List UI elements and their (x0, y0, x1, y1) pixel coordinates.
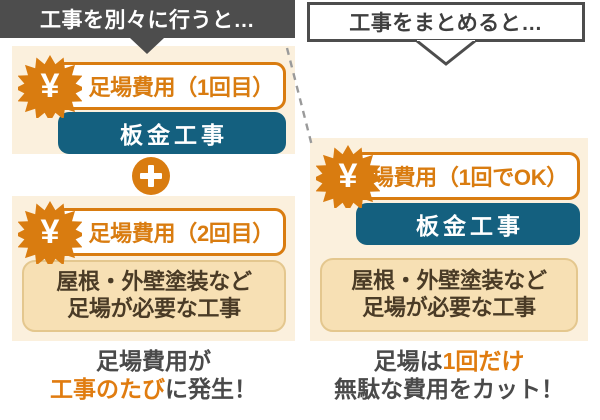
caption-separate-line-2: 工事のたびに発生！ (12, 376, 295, 404)
header-separate-arrow-icon (130, 38, 164, 54)
right-work-box: 屋根・外壁塗装など 足場が必要な工事 (320, 258, 578, 332)
caption-separate-line-2-highlight: 工事のたび (50, 376, 165, 402)
left-work-box-2-line-1: 屋根・外壁塗装など (56, 269, 251, 296)
header-combined-construction: 工事をまとめると… (307, 2, 585, 42)
left-cost-row-1: 足場費用（1回目） ¥ (18, 62, 286, 110)
right-work-box-line-2: 足場が必要な工事 (362, 295, 536, 322)
caption-separate-line-1: 足場費用が (12, 348, 295, 376)
yen-starburst-icon: ¥ (316, 144, 380, 208)
caption-combined-line-1-highlight: 1回だけ (443, 348, 525, 374)
yen-starburst-icon: ¥ (18, 54, 82, 118)
caption-combined-line-2: 無駄な費用をカット！ (310, 376, 588, 404)
left-work-box-2: 屋根・外壁塗装など 足場が必要な工事 (22, 260, 286, 332)
caption-separate: 足場費用が 工事のたびに発生！ (12, 348, 295, 403)
header-combined-arrow-icon (415, 40, 477, 66)
right-work-box-line-1: 屋根・外壁塗装など (351, 268, 546, 295)
plus-circle-icon (132, 157, 170, 195)
right-cost-pill: 足場費用（1回でOK） (352, 152, 580, 200)
left-cost-pill-2: 足場費用（2回目） (54, 208, 286, 256)
caption-combined-line-1-rest: 足場は (374, 348, 443, 374)
left-cost-pill-1: 足場費用（1回目） (54, 62, 286, 110)
left-work-bar-1: 板金工事 (58, 112, 286, 154)
yen-symbol: ¥ (316, 144, 380, 208)
right-work-bar-label: 板金工事 (412, 207, 524, 241)
left-work-bar-1-label: 板金工事 (116, 116, 228, 150)
header-combined-label: 工事をまとめると… (349, 7, 543, 37)
caption-combined-line-1: 足場は1回だけ (310, 348, 588, 376)
header-separate-construction: 工事を別々に行うと… (0, 0, 295, 38)
diagram-canvas: 工事を別々に行うと… 工事をまとめると… 足場費用（1回目） ¥ 板金工事 (0, 0, 600, 420)
left-cost-row-2: 足場費用（2回目） ¥ (18, 208, 286, 256)
right-cost-pill-label: 足場費用（1回でOK） (350, 160, 568, 192)
caption-combined: 足場は1回だけ 無駄な費用をカット！ (310, 348, 588, 403)
right-work-bar: 板金工事 (356, 203, 580, 245)
yen-symbol: ¥ (18, 54, 82, 118)
yen-symbol: ¥ (18, 200, 82, 264)
caption-separate-line-2-rest: に発生！ (165, 376, 257, 402)
yen-starburst-icon: ¥ (18, 200, 82, 264)
left-cost-pill-1-label: 足場費用（1回目） (88, 70, 274, 102)
header-separate-label: 工事を別々に行うと… (40, 4, 255, 34)
left-work-box-2-line-2: 足場が必要な工事 (67, 296, 241, 323)
right-cost-row: 足場費用（1回でOK） ¥ (316, 152, 580, 200)
left-cost-pill-2-label: 足場費用（2回目） (88, 216, 274, 248)
